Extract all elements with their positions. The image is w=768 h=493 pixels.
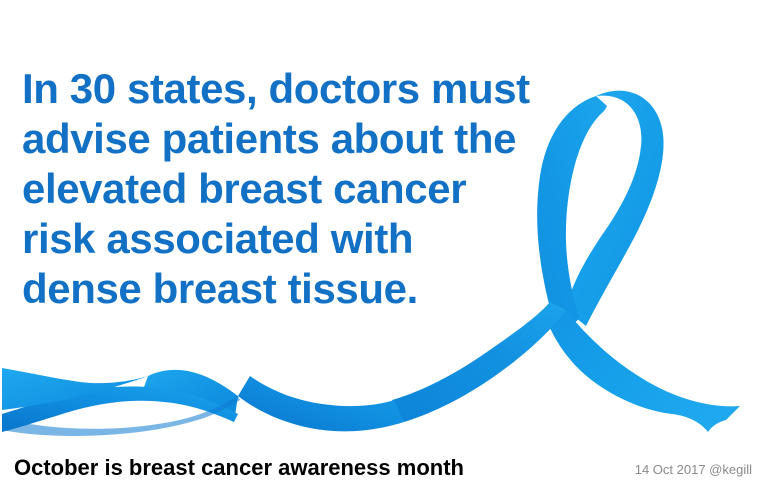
ribbon-wave-segment-2 [140,370,238,422]
ribbon-wave-segment-1 [238,376,404,431]
footer-attribution: 14 Oct 2017 @kegill [635,461,752,479]
slide-canvas: In 30 states, doctors mustadvise patient… [0,0,768,493]
ribbon-wave-segment-4 [2,368,148,410]
ribbon-right-tail [550,310,740,432]
page-title: In 30 states, doctors mustadvise patient… [22,64,562,314]
footer-bar: October is breast cancer awareness month… [0,449,768,493]
ribbon-left-tail-upper [392,302,566,422]
footer-caption: October is breast cancer awareness month [14,453,464,483]
headline-line-3: elevated breast cancer [22,165,466,212]
headline-line-4: risk associated with [22,215,413,262]
headline-line-5: dense breast tissue. [22,265,418,312]
ribbon-wave-segment-3 [2,387,238,432]
headline-line-1: In 30 states, doctors must [22,65,530,112]
ribbon-fold-highlight [2,396,240,436]
ribbon-loop-outer [566,91,664,326]
headline-line-2: advise patients about the [22,115,516,162]
